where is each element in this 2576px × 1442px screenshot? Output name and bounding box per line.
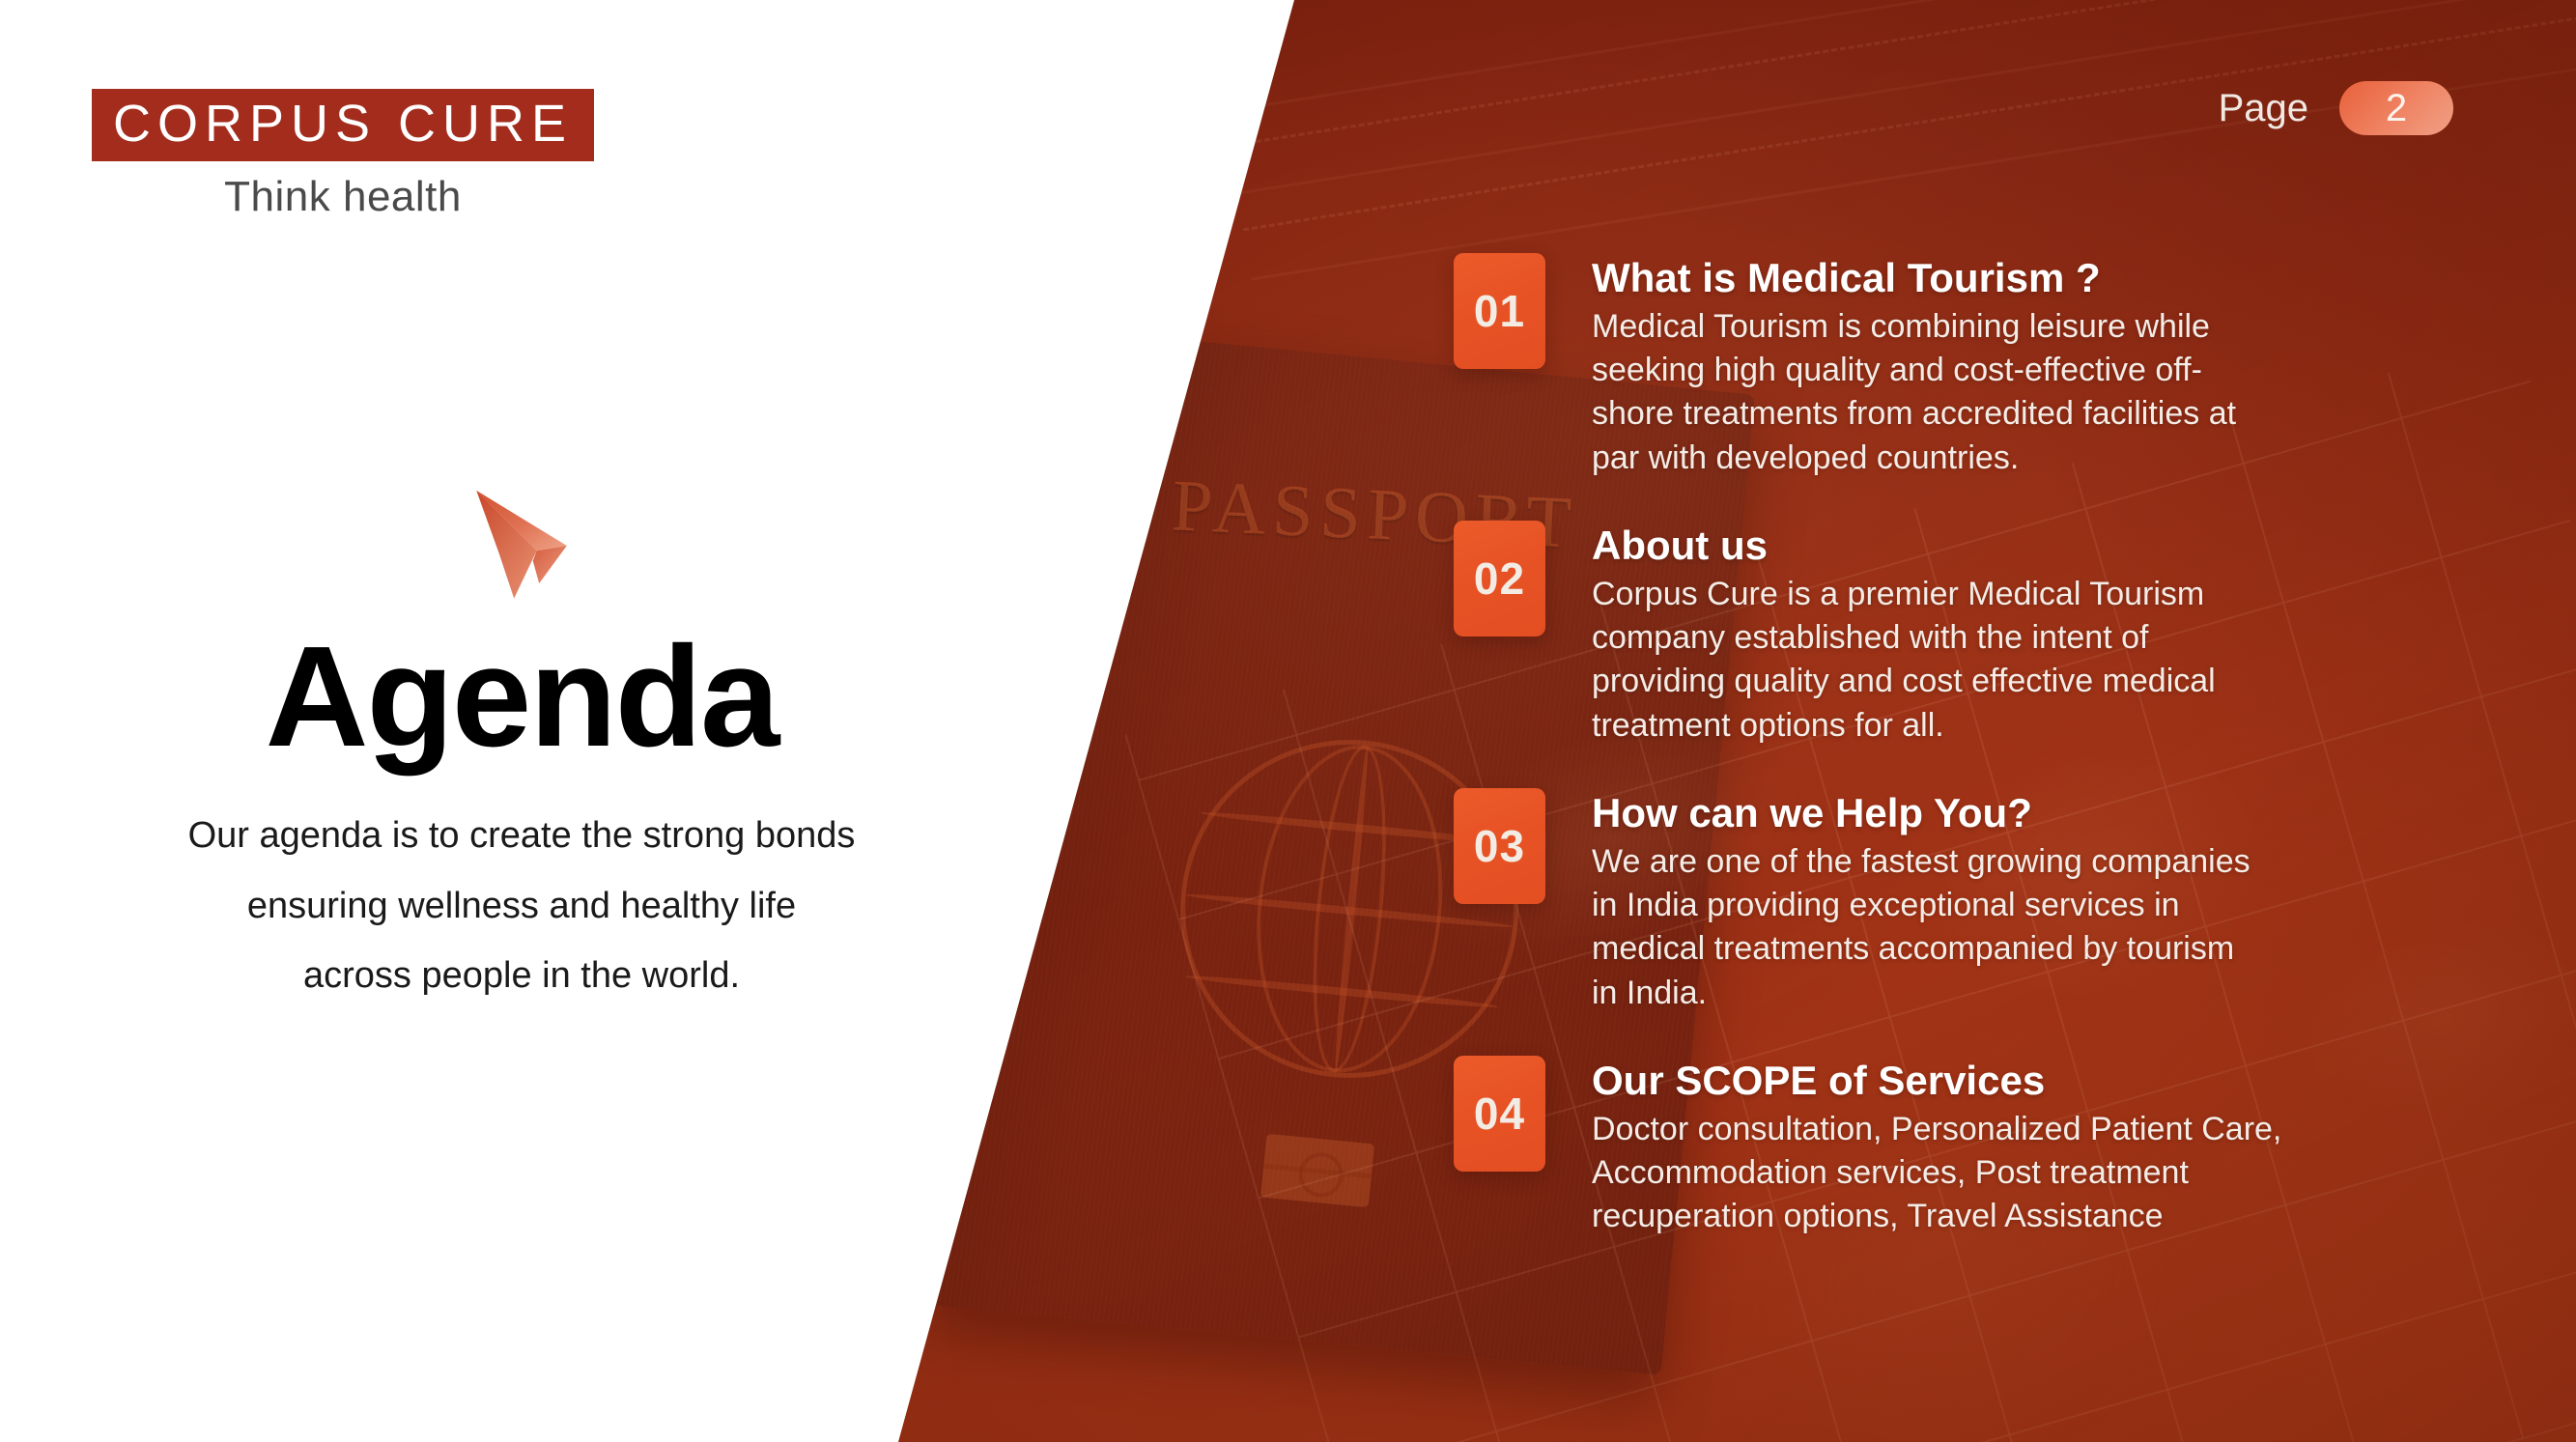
- page-number-badge: 2: [2339, 81, 2453, 135]
- agenda-item-title: What is Medical Tourism ?: [1592, 255, 2282, 300]
- agenda-item: 04 Our SCOPE of Services Doctor consulta…: [1454, 1056, 2477, 1239]
- page-title: Agenda: [97, 622, 947, 772]
- agenda-block: Agenda Our agenda is to create the stron…: [97, 483, 947, 1010]
- agenda-item-text: What is Medical Tourism ? Medical Touris…: [1592, 253, 2282, 480]
- agenda-subtitle-line-3: across people in the world.: [97, 941, 947, 1010]
- agenda-item-body: We are one of the fastest growing compan…: [1592, 840, 2268, 1015]
- agenda-item-text: Our SCOPE of Services Doctor consultatio…: [1592, 1056, 2287, 1239]
- agenda-subtitle: Our agenda is to create the strong bonds…: [97, 801, 947, 1010]
- agenda-subtitle-line-1: Our agenda is to create the strong bonds: [97, 801, 947, 870]
- agenda-item-body: Corpus Cure is a premier Medical Tourism…: [1592, 573, 2229, 748]
- agenda-item-number: 01: [1454, 253, 1545, 369]
- agenda-item-body: Medical Tourism is combining leisure whi…: [1592, 305, 2282, 480]
- agenda-item-title: Our SCOPE of Services: [1592, 1058, 2287, 1103]
- page-indicator: Page 2: [2219, 81, 2453, 135]
- slide-agenda: PASSPORT CORPUS CURE Think health Page 2: [0, 0, 2576, 1442]
- paper-plane-icon: [459, 483, 584, 608]
- brand-name: CORPUS CURE: [113, 98, 573, 151]
- agenda-item-body: Doctor consultation, Personalized Patien…: [1592, 1108, 2287, 1239]
- brand-name-bar: CORPUS CURE: [92, 89, 594, 161]
- brand-logo: CORPUS CURE Think health: [92, 89, 594, 221]
- brand-tagline: Think health: [92, 173, 594, 221]
- page-label: Page: [2219, 87, 2308, 130]
- agenda-item-number: 02: [1454, 521, 1545, 636]
- agenda-item-text: How can we Help You? We are one of the f…: [1592, 788, 2268, 1015]
- agenda-item-title: How can we Help You?: [1592, 790, 2268, 835]
- agenda-subtitle-line-2: ensuring wellness and healthy life: [97, 871, 947, 941]
- agenda-item: 01 What is Medical Tourism ? Medical Tou…: [1454, 253, 2477, 480]
- agenda-item: 03 How can we Help You? We are one of th…: [1454, 788, 2477, 1015]
- agenda-item-number: 04: [1454, 1056, 1545, 1172]
- agenda-item-text: About us Corpus Cure is a premier Medica…: [1592, 521, 2229, 748]
- agenda-item: 02 About us Corpus Cure is a premier Med…: [1454, 521, 2477, 748]
- agenda-item-title: About us: [1592, 523, 2229, 568]
- agenda-item-number: 03: [1454, 788, 1545, 904]
- agenda-items-list: 01 What is Medical Tourism ? Medical Tou…: [1454, 253, 2477, 1238]
